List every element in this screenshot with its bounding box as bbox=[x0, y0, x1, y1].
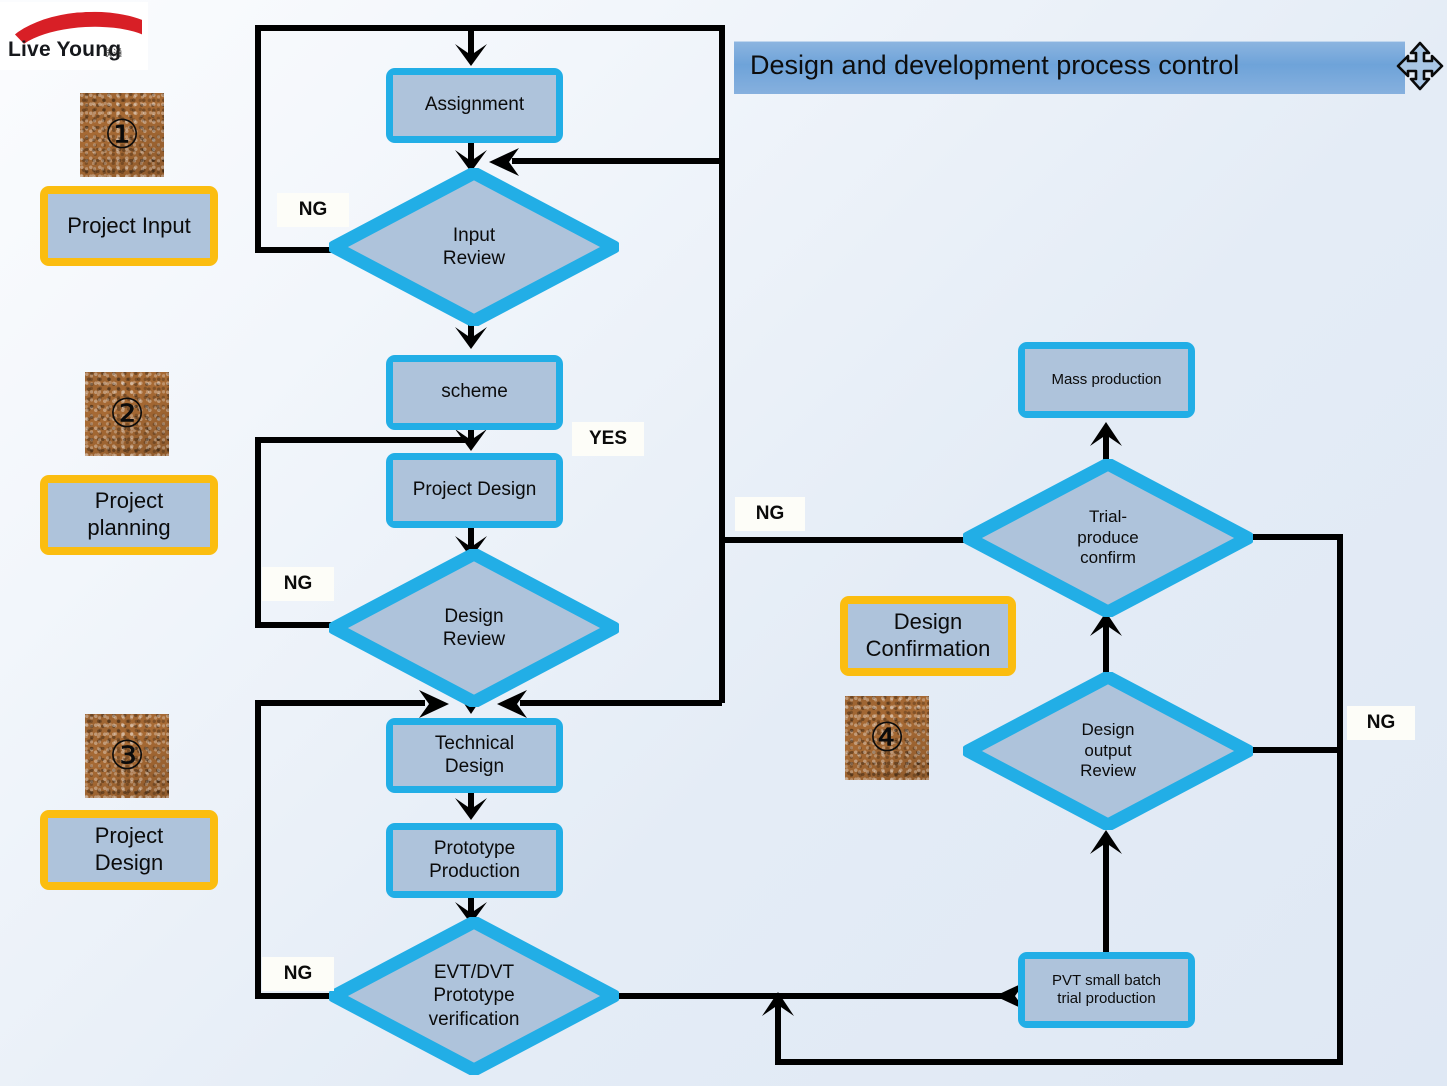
connector-bottom-return-h bbox=[775, 1059, 1343, 1065]
node-label-pvt-small-batch: PVT small batchtrial production bbox=[1025, 959, 1188, 1021]
node-label-input-review: InputReview bbox=[329, 168, 619, 326]
node-design-output-review[interactable]: DesignoutputReview bbox=[963, 672, 1253, 830]
page-title: Design and development process control bbox=[750, 50, 1239, 81]
connector-evt-to-pvt bbox=[612, 993, 1012, 999]
node-input-review[interactable]: InputReview bbox=[329, 168, 619, 326]
node-label-evt-dvt: EVT/DVTPrototypeverification bbox=[329, 917, 619, 1075]
node-label-design-review: DesignReview bbox=[329, 549, 619, 707]
connector-ng-trial-right bbox=[1238, 534, 1343, 540]
node-label-mass-production: Mass production bbox=[1025, 349, 1188, 411]
arrowhead-scheme bbox=[452, 325, 490, 353]
edge-label-ng-design: NG bbox=[262, 567, 334, 601]
legend-number-3: ③ bbox=[85, 714, 169, 798]
edge-label-ng-output: NG bbox=[1347, 706, 1415, 740]
logo-chinese-text: 联通 bbox=[103, 46, 123, 59]
connector-ng-input-v-left bbox=[255, 25, 261, 253]
edge-label-ng-trial: NG bbox=[735, 497, 805, 531]
node-label-scheme: scheme bbox=[393, 362, 556, 423]
arrowhead-design-output-review bbox=[1087, 826, 1125, 856]
connector-ng-trial-to-trunk bbox=[719, 537, 975, 543]
connector-ng-right-trunk bbox=[1337, 534, 1343, 1065]
node-mass-production[interactable]: Mass production bbox=[1018, 342, 1195, 418]
node-label-technical-design: TechnicalDesign bbox=[393, 725, 556, 786]
connector-ng-design-h-top bbox=[255, 437, 465, 443]
legend-item-project-planning[interactable]: Projectplanning bbox=[40, 475, 218, 555]
arrowhead-mass-production bbox=[1087, 418, 1125, 448]
arrowhead-prototype-production bbox=[452, 796, 490, 824]
node-evt-dvt-prototype-verification[interactable]: EVT/DVTPrototypeverification bbox=[329, 917, 619, 1075]
connector-ng-design-output-right bbox=[1238, 747, 1343, 753]
four-way-arrow-icon[interactable] bbox=[1394, 40, 1446, 96]
connector-ng-input-h-bottom bbox=[255, 247, 335, 253]
page-title-bar: Design and development process control bbox=[734, 41, 1405, 94]
legend-item-project-design[interactable]: ProjectDesign bbox=[40, 810, 218, 890]
node-label-prototype-production: PrototypeProduction bbox=[393, 830, 556, 891]
live-young-logo: Live Young 联通 bbox=[0, 2, 148, 70]
arrowhead-into-assignment bbox=[452, 42, 490, 70]
node-label-design-output-review: DesignoutputReview bbox=[963, 672, 1253, 830]
legend-number-2: ② bbox=[85, 372, 169, 456]
node-label-assignment: Assignment bbox=[393, 75, 556, 136]
node-label-trial-produce-confirm: Trial-produceconfirm bbox=[963, 459, 1253, 617]
legend-label-project-input: Project Input bbox=[48, 194, 210, 258]
edge-label-yes-scheme: YES bbox=[572, 422, 644, 456]
node-project-design[interactable]: Project Design bbox=[386, 453, 563, 528]
connector-trunk-to-input-review bbox=[512, 158, 722, 164]
node-scheme[interactable]: scheme bbox=[386, 355, 563, 430]
legend-label-project-planning: Projectplanning bbox=[48, 483, 210, 547]
connector-ng-evt-v bbox=[255, 700, 261, 999]
node-label-project-design: Project Design bbox=[393, 460, 556, 521]
flowchart-canvas: Live Young 联通 Design and development pro… bbox=[0, 0, 1447, 1086]
connector-ng-evt-h-bottom bbox=[255, 993, 340, 999]
node-design-review[interactable]: DesignReview bbox=[329, 549, 619, 707]
node-technical-design[interactable]: TechnicalDesign bbox=[386, 718, 563, 793]
node-prototype-production[interactable]: PrototypeProduction bbox=[386, 823, 563, 898]
legend-label-project-design: ProjectDesign bbox=[48, 818, 210, 882]
connector-ng-design-v bbox=[255, 437, 261, 628]
legend-number-1: ① bbox=[80, 93, 164, 177]
node-trial-produce-confirm[interactable]: Trial-produceconfirm bbox=[963, 459, 1253, 617]
legend-number-4: ④ bbox=[845, 696, 929, 780]
connector-right-trunk bbox=[719, 25, 725, 703]
legend-item-project-input[interactable]: Project Input bbox=[40, 186, 218, 266]
edge-label-ng-evt: NG bbox=[262, 957, 334, 991]
connector-ng-design-h-bottom bbox=[255, 622, 335, 628]
connector-ng-input-h-top bbox=[255, 25, 725, 31]
node-pvt-small-batch[interactable]: PVT small batchtrial production bbox=[1018, 952, 1195, 1028]
arrowhead-bottom-return bbox=[759, 988, 797, 1018]
node-assignment[interactable]: Assignment bbox=[386, 68, 563, 143]
edge-label-ng-input: NG bbox=[277, 193, 349, 227]
